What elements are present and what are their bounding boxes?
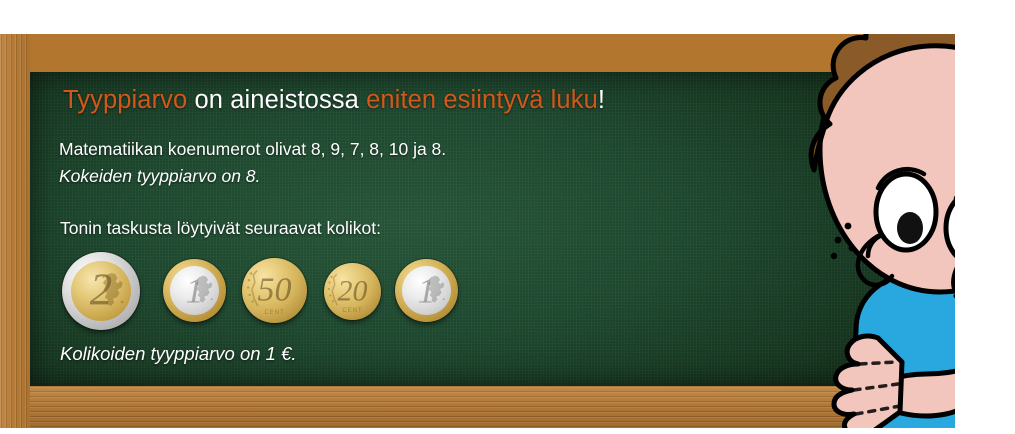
canvas-right-margin <box>955 0 1015 434</box>
coin-2-euro: 2 <box>62 252 140 330</box>
board-title-part3: eniten esiintyvä luku <box>366 86 598 114</box>
canvas-bottom-margin <box>0 428 1015 434</box>
stars-arc-icon <box>327 271 346 311</box>
europe-map-icon <box>99 271 127 311</box>
coin-1-euro-second: 1 <box>395 259 458 322</box>
frame-rail-left <box>0 34 30 428</box>
coin-example-statement: Tonin taskusta löytyivät seuraavat kolik… <box>60 218 381 239</box>
exam-example-answer: Kokeiden tyyppiarvo on 8. <box>59 166 260 187</box>
coin-20-cent: 20 CENT <box>324 263 381 320</box>
europe-map-icon <box>193 274 216 306</box>
illustration-canvas: Tyyppiarvo on aineistossa eniten esiinty… <box>0 0 1015 434</box>
exam-example-statement: Matematiikan koenumerot olivat 8, 9, 7, … <box>59 139 446 160</box>
coin-example-answer: Kolikoiden tyyppiarvo on 1 €. <box>60 343 297 365</box>
canvas-top-margin <box>0 0 1015 34</box>
board-title-part4: ! <box>598 86 605 114</box>
board-title-part1: Tyyppiarvo <box>63 86 187 114</box>
coin-50-cent: 50 CENT <box>242 258 307 323</box>
coin-1-euro-first: 1 <box>163 259 226 322</box>
stars-arc-icon <box>246 267 268 313</box>
board-title-part2: on aineistossa <box>187 86 366 114</box>
europe-map-icon <box>425 274 448 306</box>
board-title: Tyyppiarvo on aineistossa eniten esiinty… <box>63 86 605 115</box>
boy-pupil-left <box>897 212 923 244</box>
